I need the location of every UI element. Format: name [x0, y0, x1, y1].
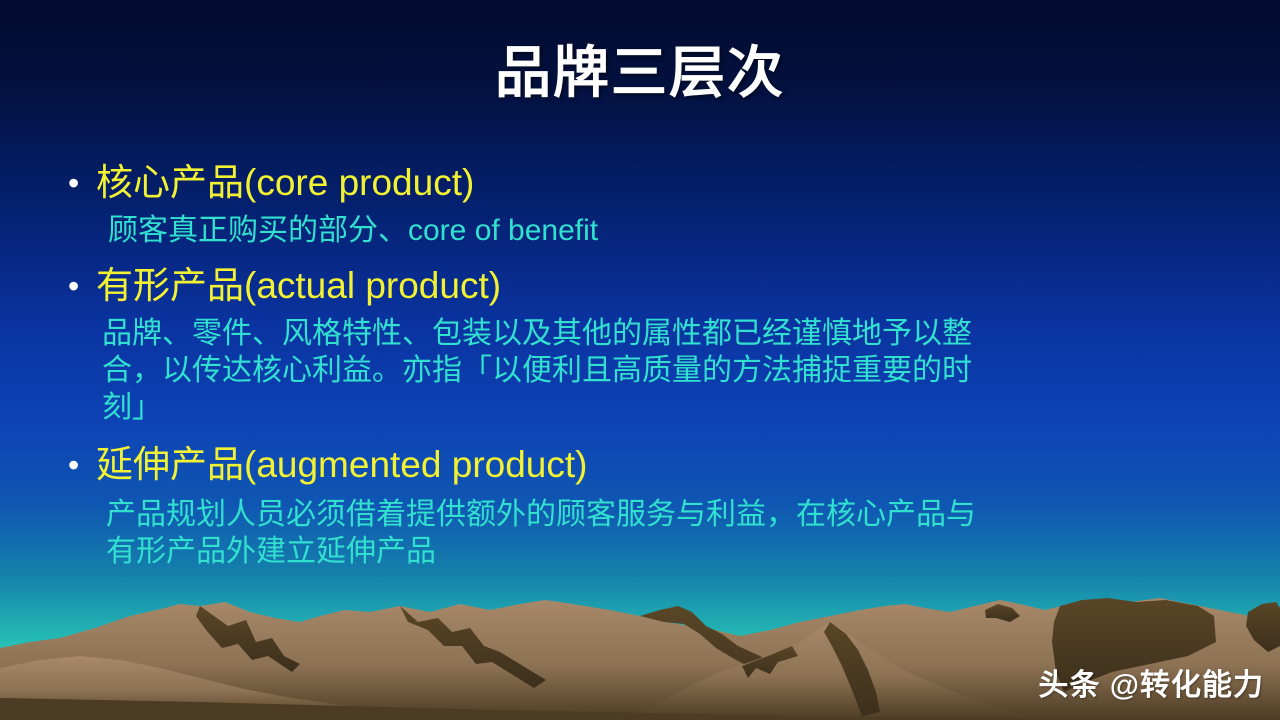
subtext-line: 顾客真正购买的部分、core of benefit	[108, 212, 1232, 249]
slide-canvas: 品牌三层次 • 核心产品(core product) 顾客真正购买的部分、cor…	[0, 0, 1280, 720]
bullet-dot-icon: •	[62, 263, 96, 309]
slide-title: 品牌三层次	[0, 42, 1280, 104]
bullet-dot-icon: •	[62, 442, 96, 488]
subtext-line: 品牌、零件、风格特性、包装以及其他的属性都已经谨慎地予以整	[102, 315, 1232, 352]
bullet-row-actual-product: • 有形产品(actual product)	[62, 263, 1232, 309]
bullet-dot-icon: •	[62, 160, 96, 206]
content-block-core-product: • 核心产品(core product) 顾客真正购买的部分、core of b…	[62, 160, 1232, 249]
subtext-line: 有形产品外建立延伸产品	[106, 533, 1232, 570]
bullet-heading-actual-product: 有形产品(actual product)	[96, 263, 501, 309]
bullet-heading-core-product: 核心产品(core product)	[96, 160, 474, 206]
content-block-actual-product: • 有形产品(actual product) 品牌、零件、风格特性、包装以及其他…	[62, 263, 1232, 426]
bullet-row-core-product: • 核心产品(core product)	[62, 160, 1232, 206]
subtext-line: 产品规划人员必须借着提供额外的顾客服务与利益，在核心产品与	[106, 496, 1232, 533]
bullet-subtext-augmented-product: 产品规划人员必须借着提供额外的顾客服务与利益，在核心产品与 有形产品外建立延伸产…	[106, 496, 1232, 570]
slide-body: • 核心产品(core product) 顾客真正购买的部分、core of b…	[62, 160, 1232, 572]
subtext-line: 刻」	[102, 389, 1232, 426]
bullet-row-augmented-product: • 延伸产品(augmented product)	[62, 442, 1232, 488]
bullet-heading-augmented-product: 延伸产品(augmented product)	[96, 442, 587, 488]
bullet-subtext-actual-product: 品牌、零件、风格特性、包装以及其他的属性都已经谨慎地予以整 合，以传达核心利益。…	[102, 315, 1232, 426]
watermark-label: 头条 @转化能力	[1038, 660, 1264, 704]
content-block-augmented-product: • 延伸产品(augmented product) 产品规划人员必须借着提供额外…	[62, 442, 1232, 570]
subtext-line: 合，以传达核心利益。亦指「以便利且高质量的方法捕捉重要的时	[102, 352, 1232, 389]
bullet-subtext-core-product: 顾客真正购买的部分、core of benefit	[108, 212, 1232, 249]
